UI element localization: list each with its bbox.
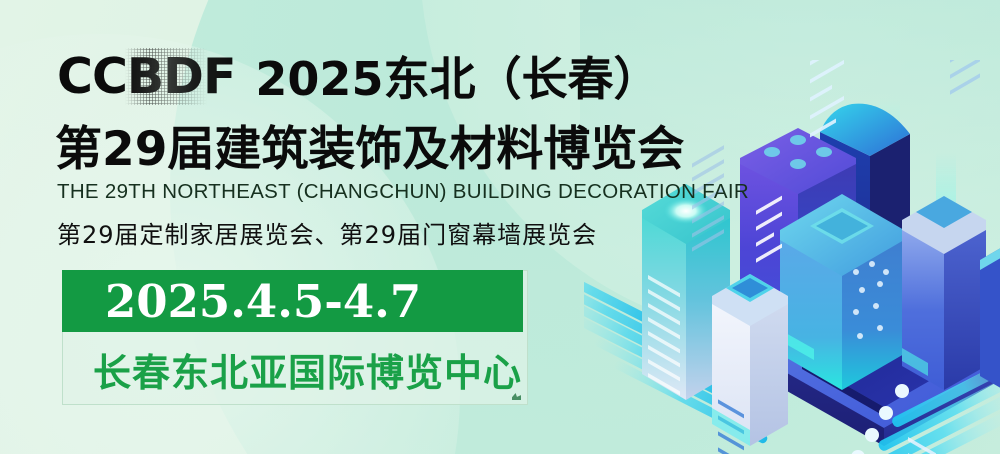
venue-name: 长春东北亚国际博览中心 xyxy=(93,342,522,397)
subtitle-chinese: 第29届定制家居展览会、第29届门窗幕墙展览会 xyxy=(57,215,597,250)
title-chinese-line2: 第29届建筑装饰及材料博览会 xyxy=(55,110,684,179)
title-chinese-part1: 2025东北（长春） xyxy=(255,43,659,109)
event-date: 2025.4.5-4.7 xyxy=(105,279,421,324)
date-bar: 2025.4.5-4.7 xyxy=(62,270,523,332)
subtitle-english: THE 29TH NORTHEAST (CHANGCHUN) BUILDING … xyxy=(57,180,749,204)
title-line-1: CCBDF 2025东北（长春） xyxy=(57,48,659,104)
event-acronym: CCBDF xyxy=(57,48,235,105)
headline-block: CCBDF 2025东北（长春） 第29届建筑装饰及材料博览会 THE 29TH… xyxy=(0,0,640,454)
exhibition-banner: CCBDF 2025东北（长春） 第29届建筑装饰及材料博览会 THE 29TH… xyxy=(0,0,1000,454)
